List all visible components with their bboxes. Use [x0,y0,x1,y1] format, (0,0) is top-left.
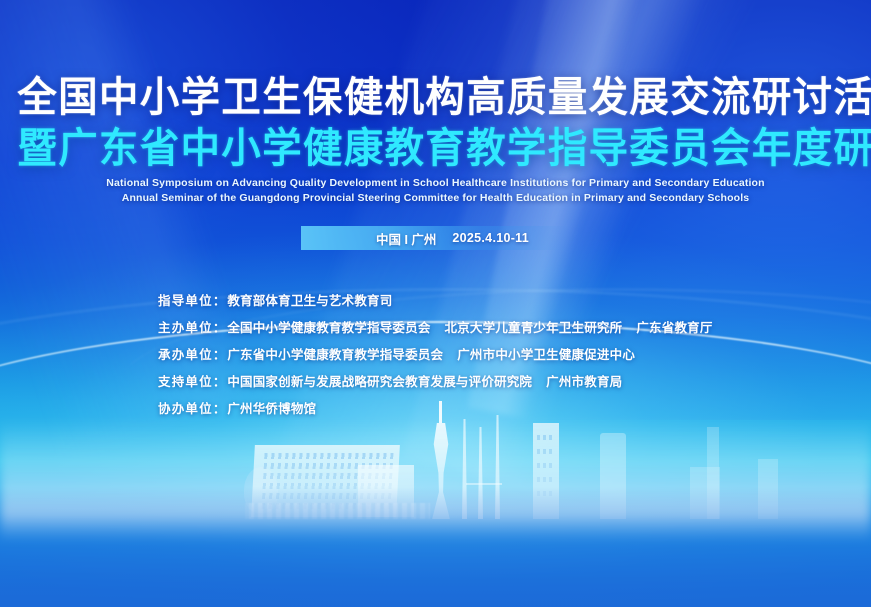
organizer-label: 支持单位 [158,371,213,390]
subtitle-line-1: National Symposium on Advancing Quality … [0,176,871,191]
event-meta-badge-wrap: 中国 I 广州 2025.4.10-11 [0,226,871,250]
conference-poster: 全国中小学卫生保健机构高质量发展交流研讨活动 暨广东省中小学健康教育教学指导委员… [0,0,871,607]
organizer-values: 全国中小学健康教育教学指导委员会北京大学儿童青少年卫生研究所广东省教育厅 [227,317,712,336]
organizer-colon: ： [213,317,226,336]
organizer-value: 北京大学儿童青少年卫生研究所 [445,317,623,336]
organizer-label: 协办单位 [158,398,213,417]
organizer-value: 广州市中小学卫生健康促进中心 [457,344,635,363]
organizer-row: 指导单位：教育部体育卫生与艺术教育司 [158,290,713,317]
organizer-colon: ： [213,371,226,390]
organizer-colon: ： [213,344,226,363]
organizer-list: 指导单位：教育部体育卫生与艺术教育司主办单位：全国中小学健康教育教学指导委员会北… [158,290,713,425]
organizer-values: 广州华侨博物馆 [227,398,316,417]
event-meta-badge: 中国 I 广州 2025.4.10-11 [301,226,571,250]
organizer-label: 指导单位 [158,290,213,309]
organizer-value: 中国国家创新与发展战略研究会教育发展与评价研究院 [227,371,532,390]
organizer-value: 广州华侨博物馆 [227,398,316,417]
organizer-values: 教育部体育卫生与艺术教育司 [227,290,392,309]
event-date: 2025.4.10-11 [452,231,529,245]
organizer-values: 中国国家创新与发展战略研究会教育发展与评价研究院广州市教育局 [227,371,622,390]
organizer-value: 广东省教育厅 [636,317,712,336]
subtitle-line-2: Annual Seminar of the Guangdong Provinci… [0,191,871,206]
poster-title: 全国中小学卫生保健机构高质量发展交流研讨活动 暨广东省中小学健康教育教学指导委员… [0,74,871,172]
organizer-value: 全国中小学健康教育教学指导委员会 [227,317,430,336]
event-location: 中国 I 广州 [376,229,436,248]
organizer-row: 协办单位：广州华侨博物馆 [158,398,713,425]
organizer-values: 广东省中小学健康教育教学指导委员会广州市中小学卫生健康促进中心 [227,344,635,363]
title-line-1: 全国中小学卫生保健机构高质量发展交流研讨活动 [17,74,853,121]
organizer-row: 支持单位：中国国家创新与发展战略研究会教育发展与评价研究院广州市教育局 [158,371,713,398]
organizer-value: 广州市教育局 [546,371,622,390]
organizer-row: 承办单位：广东省中小学健康教育教学指导委员会广州市中小学卫生健康促进中心 [158,344,713,371]
organizer-colon: ： [213,290,226,309]
poster-subtitle: National Symposium on Advancing Quality … [0,176,871,206]
organizer-label: 主办单位 [158,317,213,336]
organizer-value: 教育部体育卫生与艺术教育司 [227,290,392,309]
organizer-value: 广东省中小学健康教育教学指导委员会 [227,344,443,363]
organizer-row: 主办单位：全国中小学健康教育教学指导委员会北京大学儿童青少年卫生研究所广东省教育… [158,317,713,344]
organizer-colon: ： [213,398,226,417]
organizer-label: 承办单位 [158,344,213,363]
foreground-fade [0,487,871,607]
title-line-2: 暨广东省中小学健康教育教学指导委员会年度研讨活动 [17,125,853,172]
